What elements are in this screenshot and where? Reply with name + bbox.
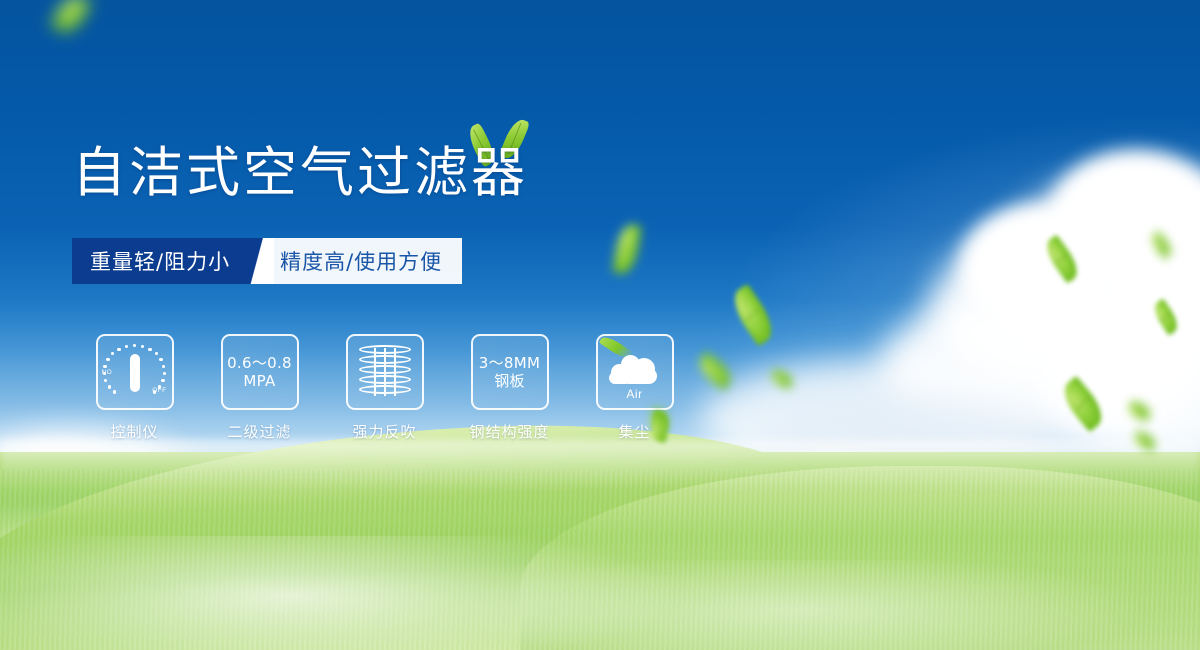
feature-item-controller[interactable]: NO OFF 控制仪 bbox=[72, 334, 197, 442]
feature-label: 二级过滤 bbox=[227, 421, 291, 442]
gauge-no-label: NO bbox=[102, 369, 113, 376]
feature-label: 钢结构强度 bbox=[469, 421, 549, 442]
air-label: Air bbox=[605, 387, 665, 401]
feature-list: NO OFF 控制仪 0.6～0.8 MPA 二级过滤 bbox=[72, 334, 697, 442]
feature-item-dust-collection[interactable]: Air 集尘 bbox=[572, 334, 697, 442]
gauge-off-label: OFF bbox=[152, 387, 166, 394]
field-highlight-secondary bbox=[380, 560, 1200, 650]
coil-filter-icon bbox=[359, 343, 411, 401]
subtitle-left: 重量轻/阻力小 bbox=[72, 238, 248, 284]
feature-icon-box: 0.6～0.8 MPA bbox=[221, 334, 299, 410]
feature-icon-box: NO OFF bbox=[96, 334, 174, 410]
gauge-dial-icon: NO OFF bbox=[103, 342, 167, 402]
feature-item-secondary-filter[interactable]: 0.6～0.8 MPA 二级过滤 bbox=[197, 334, 322, 442]
pressure-unit: MPA bbox=[243, 372, 275, 390]
feature-item-steel-strength[interactable]: 3～8MM 钢板 钢结构强度 bbox=[447, 334, 572, 442]
feature-icon-box: Air bbox=[596, 334, 674, 410]
steel-thickness: 3～8MM bbox=[479, 354, 540, 372]
steel-material: 钢板 bbox=[494, 372, 525, 390]
horizon-blend bbox=[0, 440, 1200, 490]
feature-label: 强力反吹 bbox=[352, 421, 416, 442]
subtitle-bar: 重量轻/阻力小 精度高/使用方便 bbox=[72, 238, 462, 284]
gauge-needle bbox=[130, 354, 140, 392]
subtitle-separator bbox=[248, 238, 274, 284]
feature-icon-box bbox=[346, 334, 424, 410]
pressure-value: 0.6～0.8 bbox=[227, 354, 292, 372]
product-banner: 自洁式空气过滤器 重量轻/阻力小 精度高/使用方便 bbox=[0, 0, 1200, 650]
feature-label: 控制仪 bbox=[110, 421, 158, 442]
feature-icon-box: 3～8MM 钢板 bbox=[471, 334, 549, 410]
feature-item-blowback[interactable]: 强力反吹 bbox=[322, 334, 447, 442]
air-cloud-icon: Air bbox=[605, 346, 665, 398]
feature-label: 集尘 bbox=[618, 421, 650, 442]
subtitle-right: 精度高/使用方便 bbox=[274, 238, 462, 284]
page-title: 自洁式空气过滤器 bbox=[72, 146, 528, 200]
